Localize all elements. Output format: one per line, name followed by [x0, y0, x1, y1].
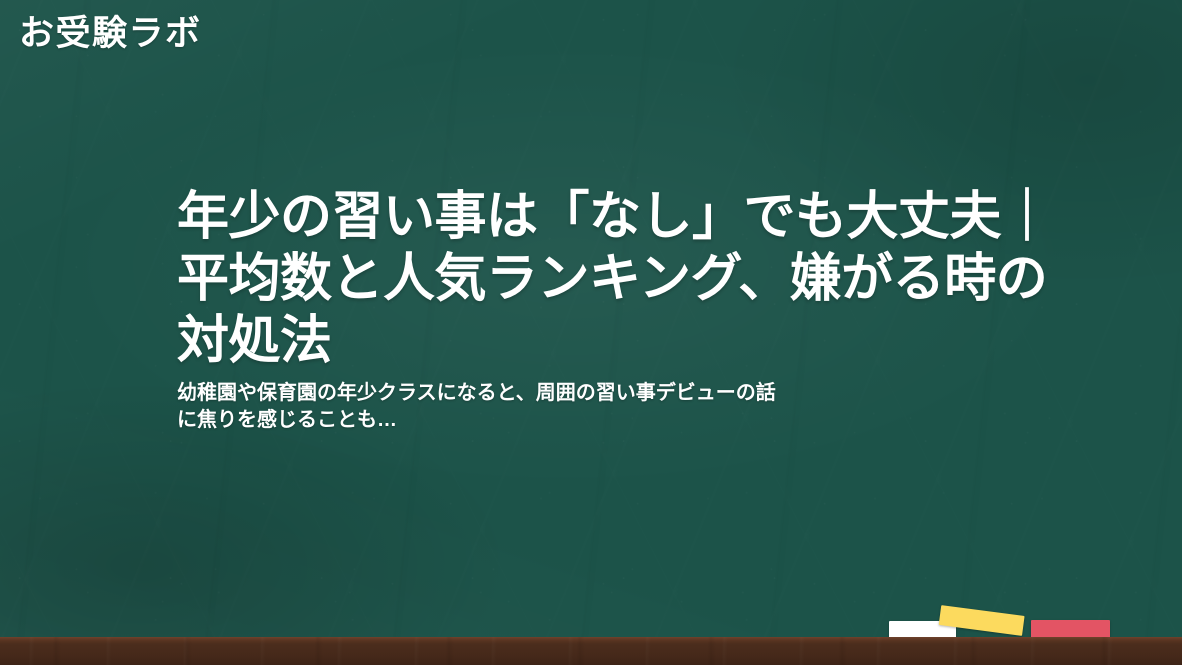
article-text-block: 年少の習い事は「なし」でも大丈夫｜平均数と人気ランキング、嫌がる時の対処法 幼稚… [177, 186, 1089, 434]
chalk-stick-red [1031, 620, 1110, 638]
chalkboard-wooden-ledge [0, 637, 1182, 665]
site-logo[interactable]: お受験ラボ [19, 12, 202, 56]
article-headline: 年少の習い事は「なし」でも大丈夫｜平均数と人気ランキング、嫌がる時の対処法 [177, 186, 1089, 372]
wood-grain-texture [0, 637, 1182, 665]
article-excerpt: 幼稚園や保育園の年少クラスになると、周囲の習い事デビューの話に焦りを感じることも… [177, 380, 785, 434]
chalkboard-thumbnail: お受験ラボ 年少の習い事は「なし」でも大丈夫｜平均数と人気ランキング、嫌がる時の… [0, 0, 1182, 665]
